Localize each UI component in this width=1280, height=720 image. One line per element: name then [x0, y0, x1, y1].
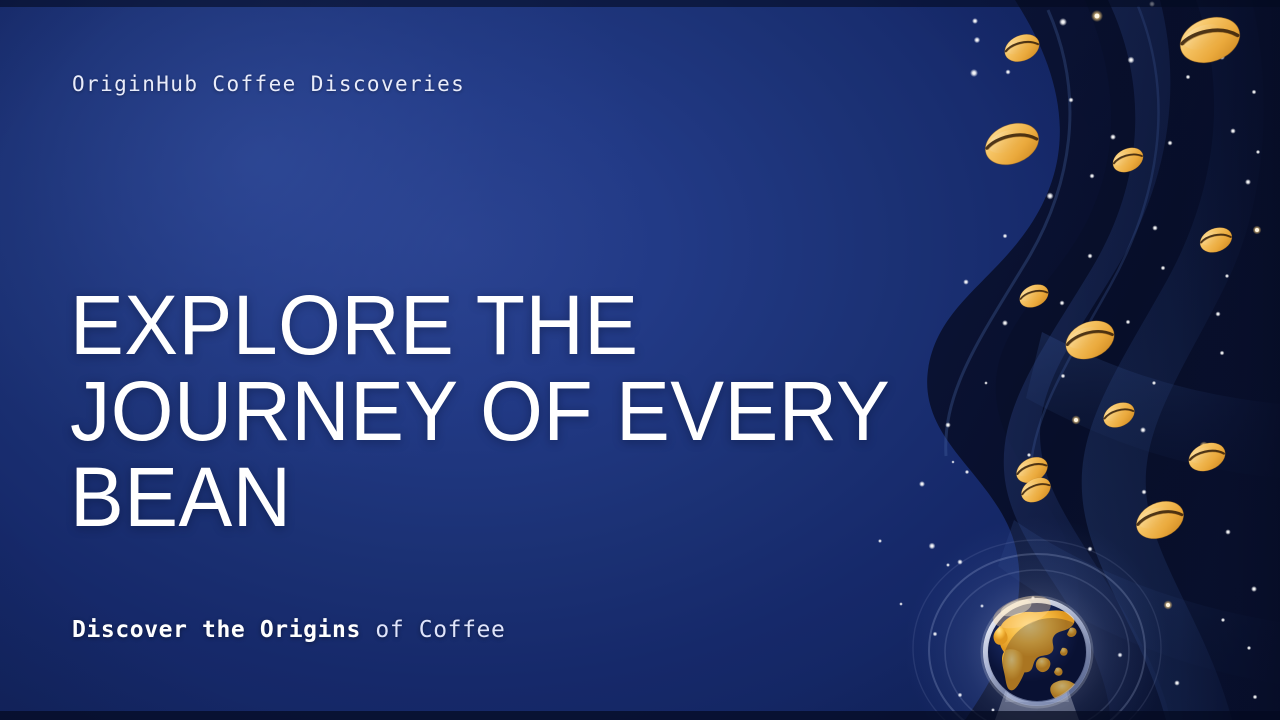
letterbox-band-top	[0, 0, 1280, 7]
letterbox-band-bottom	[0, 711, 1280, 720]
brand-eyebrow: OriginHub Coffee Discoveries	[72, 72, 465, 96]
subtitle-light-text: of Coffee	[361, 617, 505, 643]
subtitle-strong-text: Discover the Origins	[72, 617, 361, 643]
page-title: EXPLORE THE JOURNEY OF EVERY BEAN	[70, 282, 915, 540]
presentation-slide: OriginHub Coffee Discoveries EXPLORE THE…	[0, 0, 1280, 720]
slide-subtitle: Discover the Origins of Coffee	[72, 617, 505, 643]
